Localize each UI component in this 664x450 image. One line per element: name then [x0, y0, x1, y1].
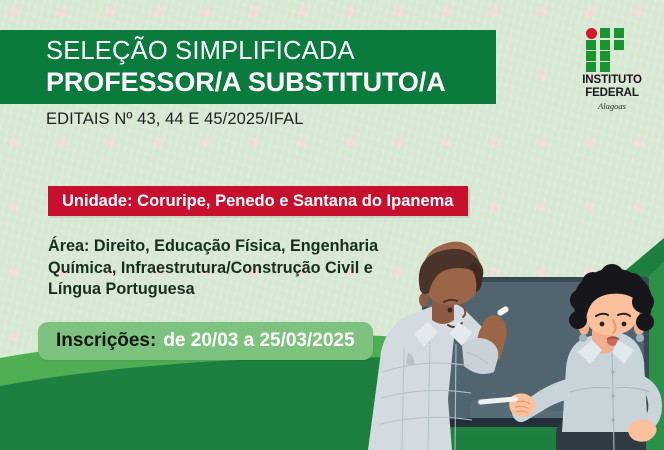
- inscriptions-pill: Inscrições: de 20/03 a 25/03/2025: [38, 322, 373, 360]
- area-line-1: Área: Direito, Educação Física, Engenhar…: [48, 236, 468, 258]
- area-line-2: Química, Infraestrutura/Construção Civil…: [48, 258, 468, 280]
- unit-banner-text: Unidade: Coruripe, Penedo e Santana do I…: [62, 192, 454, 211]
- header-title-line1: SELEÇÃO SIMPLIFICADA: [46, 36, 496, 66]
- area-line-3: Língua Portuguesa: [48, 279, 468, 301]
- logo-red-dot-icon: [586, 28, 597, 39]
- inscriptions-dates: de 20/03 a 25/03/2025: [163, 330, 354, 352]
- area-text-block: Área: Direito, Educação Física, Engenhar…: [48, 236, 468, 301]
- inscriptions-label: Inscrições:: [56, 330, 156, 352]
- logo-text-instituto: INSTITUTO: [570, 75, 654, 87]
- editais-line: EDITAIS Nº 43, 44 E 45/2025/IFAL: [46, 110, 303, 129]
- logo-text-federal: FEDERAL: [570, 87, 654, 100]
- header-band: SELEÇÃO SIMPLIFICADA PROFESSOR/A SUBSTIT…: [0, 30, 496, 104]
- ifal-logo: INSTITUTO FEDERAL Alagoas: [570, 28, 654, 111]
- poster: SELEÇÃO SIMPLIFICADA PROFESSOR/A SUBSTIT…: [0, 0, 664, 450]
- logo-text-campus: Alagoas: [570, 101, 654, 111]
- unit-banner: Unidade: Coruripe, Penedo e Santana do I…: [48, 186, 468, 216]
- header-title-line2: PROFESSOR/A SUBSTITUTO/A: [46, 66, 496, 99]
- if-logo-mark-icon: [586, 28, 638, 72]
